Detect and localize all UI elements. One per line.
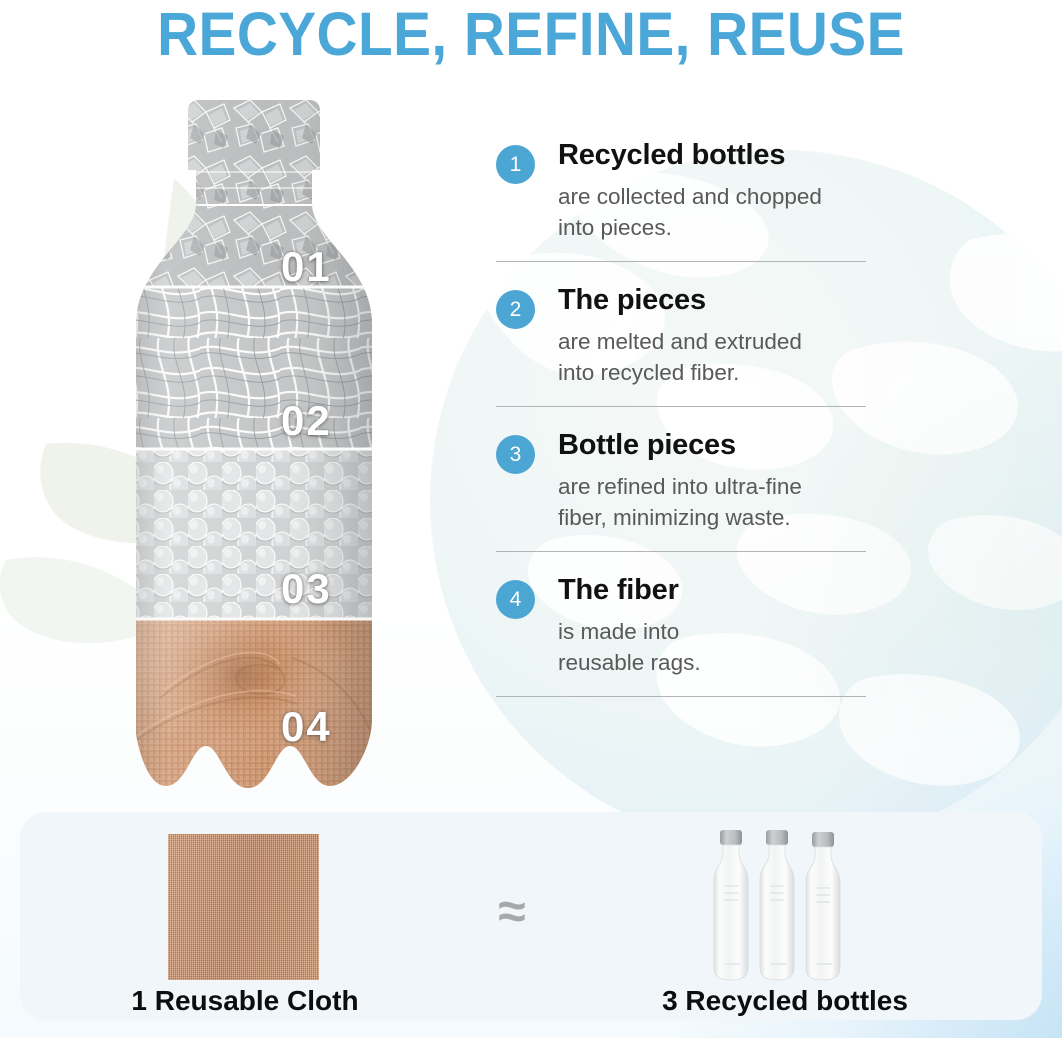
infographic-poster: RECYCLE, REFINE, REUSE [0,0,1062,1038]
step-divider-1 [496,261,866,262]
step-title-2: The pieces [558,283,936,317]
step-title-3: Bottle pieces [558,428,936,462]
step-divider-2 [496,406,866,407]
process-step-2: 2 The pieces are melted and extruded int… [496,283,936,388]
page-title: RECYCLE, REFINE, REUSE [37,2,1025,66]
step-description-3: are refined into ultra-fine fiber, minim… [558,471,936,533]
step-title-4: The fiber [558,573,936,607]
step-number-badge-2: 2 [496,290,535,329]
step-divider-4 [496,696,866,697]
cloth-quantity-label: 1 Reusable Cloth [80,985,410,1017]
approximately-equal-icon: ≈ [482,886,542,936]
step-number-badge-4: 4 [496,580,535,619]
step-number-badge-1: 1 [496,145,535,184]
step-description-1: are collected and chopped into pieces. [558,181,936,243]
process-step-4: 4 The fiber is made into reusable rags. [496,573,936,678]
bottle-process-diagram [120,98,388,798]
process-step-1: 1 Recycled bottles are collected and cho… [496,138,936,243]
step-description-2: are melted and extruded into recycled fi… [558,326,936,388]
three-plastic-bottles [706,824,856,990]
bottles-quantity-label: 3 Recycled bottles [620,985,950,1017]
cloth-swatch [168,834,319,980]
step-title-1: Recycled bottles [558,138,936,172]
step-number-badge-3: 3 [496,435,535,474]
process-step-list: 1 Recycled bottles are collected and cho… [496,138,936,718]
step-description-4: is made into reusable rags. [558,616,936,678]
equivalence-card: ≈ [20,812,1042,1020]
process-step-3: 3 Bottle pieces are refined into ultra-f… [496,428,936,533]
step-divider-3 [496,551,866,552]
